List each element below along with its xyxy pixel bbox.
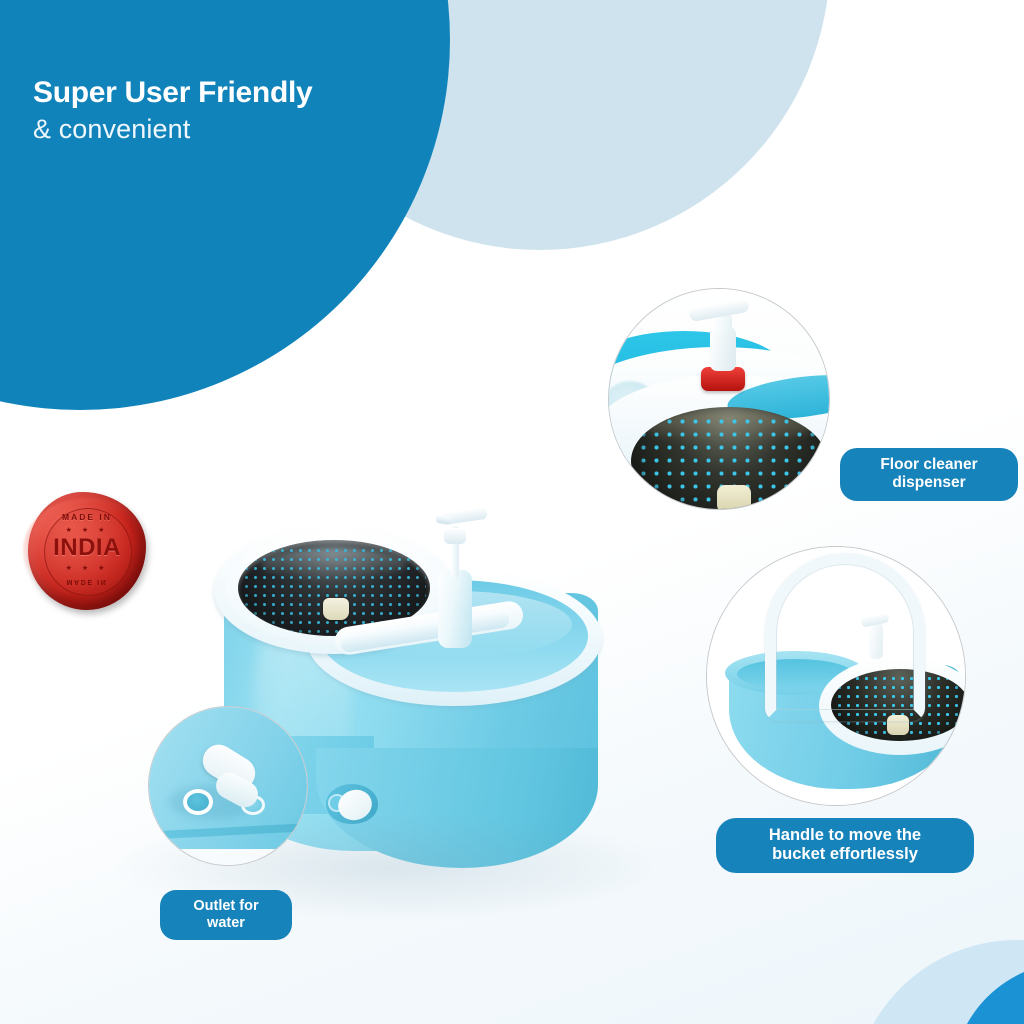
dispenser-column — [438, 570, 472, 648]
closeup-outlet-hole — [183, 789, 213, 815]
callout-handle-to-move: Handle to move the bucket effortlessly — [716, 818, 974, 873]
carry-handle — [765, 553, 925, 721]
seal-bottom-text: MADE IN — [44, 578, 130, 585]
outlet-closeup-art — [149, 707, 307, 865]
seal-stars-top: ★ ★ ★ — [44, 526, 130, 534]
headline-secondary: & convenient — [33, 113, 463, 145]
seal-top-text: MADE IN — [44, 512, 130, 522]
dispenser-pump-nozzle — [436, 515, 453, 525]
dispenser-pump-collar — [444, 528, 466, 544]
callout-line-1: Handle to move the — [730, 826, 960, 845]
made-in-india-seal: MADE IN ★ ★ ★ INDIA ★ ★ ★ MADE IN — [28, 492, 146, 610]
seal-stars-bottom: ★ ★ ★ — [44, 564, 130, 572]
seal-country-label: INDIA — [38, 534, 136, 562]
dispenser-closeup-art — [609, 289, 829, 509]
callout-floor-cleaner-dispenser: Floor cleaner dispenser — [840, 448, 1018, 501]
inset-handle-closeup — [706, 546, 966, 806]
spinner-center-hub — [323, 598, 349, 620]
callout-line-2: water — [174, 915, 278, 932]
headline-block: Super User Friendly & convenient — [33, 76, 463, 145]
callout-line-2: dispenser — [854, 474, 1004, 492]
callout-outlet-for-water: Outlet for water — [160, 890, 292, 940]
closeup-spinner-hub — [717, 485, 751, 510]
inset-dispenser-closeup — [608, 288, 830, 510]
handle-closeup-art — [707, 547, 965, 805]
inset-outlet-closeup — [148, 706, 308, 866]
callout-line-1: Outlet for — [174, 898, 278, 915]
headline-primary: Super User Friendly — [33, 76, 463, 110]
product-infographic: Super User Friendly & convenient MADE IN… — [0, 0, 1024, 1024]
callout-line-1: Floor cleaner — [854, 456, 1004, 474]
callout-line-2: bucket effortlessly — [730, 845, 960, 864]
